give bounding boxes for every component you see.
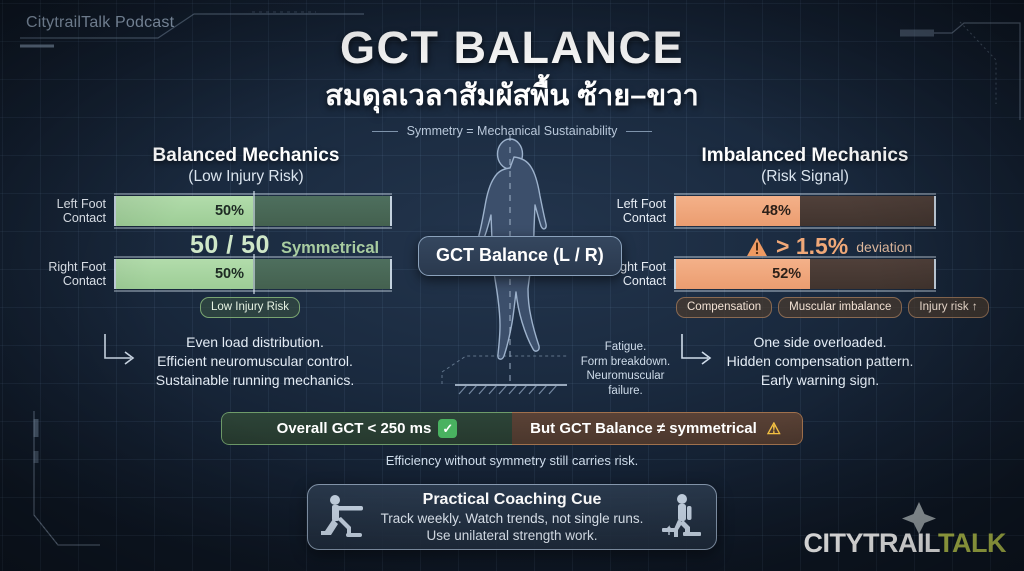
- coaching-cue-line1: Track weekly. Watch trends, not single r…: [370, 510, 654, 527]
- chip-compensation: Compensation: [676, 297, 772, 318]
- bar-row-left-foot-balanced: Left FootContact 50%: [36, 196, 392, 226]
- tagline-dash-left: [372, 131, 398, 132]
- bar-value: 48%: [762, 196, 800, 226]
- bar-label: Right FootContact: [36, 260, 106, 288]
- bar-track: 48%: [674, 196, 936, 226]
- logo-accent-text: TALK: [938, 528, 1006, 558]
- callout-imbalanced: One side overloaded.Hidden compensation …: [700, 333, 940, 390]
- summary-right-text: But GCT Balance ≠ symmetrical: [530, 420, 757, 437]
- chips-balanced: Low Injury Risk: [200, 297, 300, 318]
- coaching-cue-card: Practical Coaching Cue Track weekly. Wat…: [307, 484, 717, 550]
- bar-row-right-foot-balanced: Right FootContact 50%: [36, 259, 392, 289]
- step-up-exercise-figure-icon: [654, 491, 706, 543]
- centre-fatigue-note: Fatigue.Form breakdown.Neuromuscular fai…: [568, 340, 683, 398]
- bar-value: 50%: [215, 259, 253, 289]
- panel-left-subtitle: (Low Injury Risk): [81, 168, 411, 186]
- summary-balance-warning: But GCT Balance ≠ symmetrical ⚠: [512, 412, 803, 445]
- panel-left-title: Balanced Mechanics: [81, 145, 411, 167]
- chips-imbalanced: Compensation Muscular imbalance Injury r…: [676, 297, 989, 318]
- bar-track: 52%: [674, 259, 936, 289]
- coaching-cue-title: Practical Coaching Cue: [370, 491, 654, 509]
- page-subtitle-thai: สมดุลเวลาสัมผัสพื้น ซ้าย–ขวา: [0, 72, 1024, 118]
- bar-value: 52%: [772, 259, 810, 289]
- warning-triangle-icon: [746, 237, 768, 257]
- panel-heading-balanced: Balanced Mechanics (Low Injury Risk): [81, 145, 411, 186]
- summary-overall-gct: Overall GCT < 250 ms ✓: [221, 412, 512, 445]
- chip-injury-risk: Injury risk ↑: [908, 297, 988, 318]
- bar-centre-tick: [253, 254, 255, 294]
- bar-label: Left FootContact: [36, 197, 106, 225]
- lunge-exercise-figure-icon: [318, 491, 370, 543]
- panel-right-subtitle: (Risk Signal): [640, 168, 970, 186]
- logo-primary-text: CITYTRAIL: [804, 528, 938, 558]
- coaching-cue-line2: Use unilateral strength work.: [370, 527, 654, 544]
- hud-bracket-bottom-left: [0, 411, 120, 571]
- summary-left-text: Overall GCT < 250 ms: [277, 420, 432, 437]
- panel-right-title: Imbalanced Mechanics: [640, 145, 970, 167]
- chip-low-injury-risk: Low Injury Risk: [200, 297, 300, 318]
- header-block: GCT BALANCE สมดุลเวลาสัมผัสพื้น ซ้าย–ขวา…: [0, 22, 1024, 138]
- bar-label: Left FootContact: [596, 197, 666, 225]
- bar-centre-tick: [253, 191, 255, 231]
- infographic-canvas: CitytrailTalk Podcast GCT BALANCE สมดุลเ…: [0, 0, 1024, 571]
- logo-wordmark: CITYTRAILTALK: [804, 530, 1006, 557]
- bar-value: 50%: [215, 196, 253, 226]
- page-title: GCT BALANCE: [0, 22, 1024, 74]
- callout-balanced: Even load distribution.Efficient neuromu…: [135, 333, 375, 390]
- bar-row-left-foot-imbalanced: Left FootContact 48%: [596, 196, 936, 226]
- deviation-word: deviation: [856, 239, 912, 255]
- brand-logo: CITYTRAILTALK: [804, 502, 1006, 557]
- gct-balance-pill[interactable]: GCT Balance (L / R): [418, 236, 622, 276]
- check-mark-icon: ✓: [438, 419, 457, 438]
- bar-track: 50%: [114, 259, 392, 289]
- bar-row-right-foot-imbalanced: Right FootContact 52%: [596, 259, 936, 289]
- coaching-cue-body: Track weekly. Watch trends, not single r…: [370, 510, 654, 544]
- bar-track: 50%: [114, 196, 392, 226]
- panel-heading-imbalanced: Imbalanced Mechanics (Risk Signal): [640, 145, 970, 186]
- summary-banner: Overall GCT < 250 ms ✓ But GCT Balance ≠…: [221, 412, 803, 445]
- chip-muscular-imbalance: Muscular imbalance: [778, 297, 902, 318]
- coaching-cue-text: Practical Coaching Cue Track weekly. Wat…: [370, 491, 654, 544]
- summary-note: Efficiency without symmetry still carrie…: [0, 453, 1024, 468]
- warning-triangle-icon: ⚠: [764, 420, 784, 438]
- tagline-dash-right: [626, 131, 652, 132]
